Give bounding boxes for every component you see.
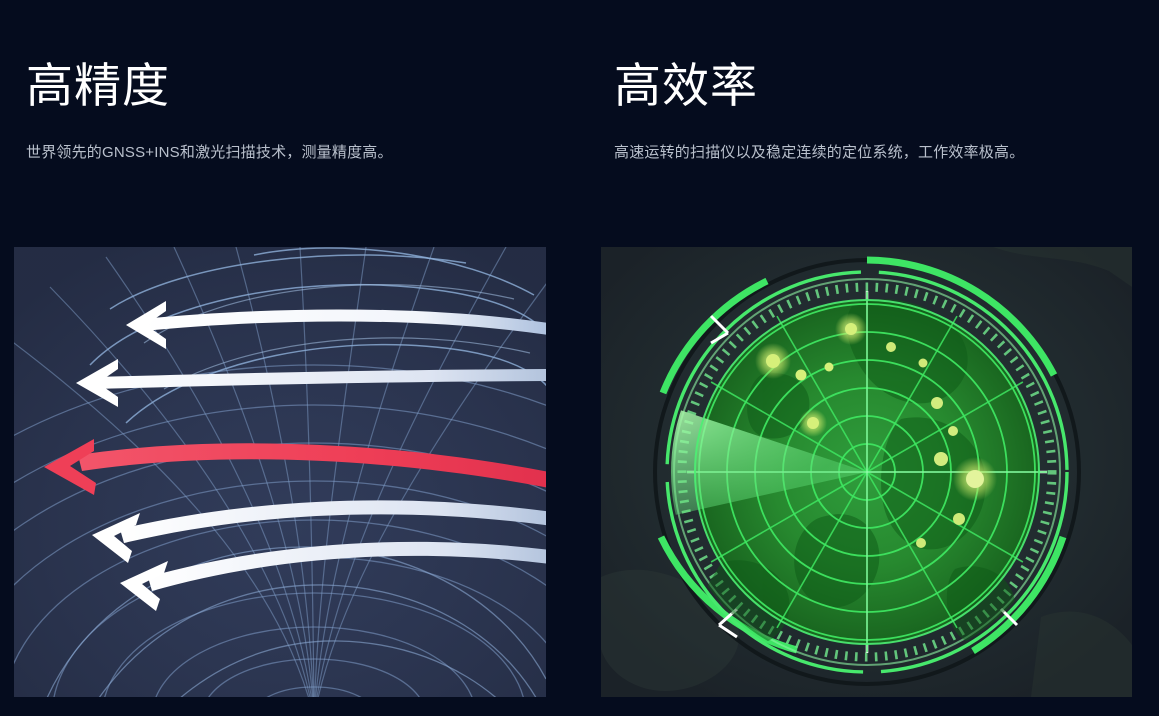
feature-columns: 高精度 世界领先的GNSS+INS和激光扫描技术，测量精度高。 [0, 0, 1159, 716]
feature-card-efficiency: 高效率 高速运转的扫描仪以及稳定连续的定位系统，工作效率极高。 [600, 0, 1159, 716]
page-title: 高精度 [26, 62, 170, 109]
globe-wireframe-svg [14, 247, 546, 697]
globe-wireframe-illustration [14, 247, 546, 697]
feature-subtitle-efficiency: 高速运转的扫描仪以及稳定连续的定位系统，工作效率极高。 [614, 145, 1024, 160]
feature-subtitle-accuracy: 世界领先的GNSS+INS和激光扫描技术，测量精度高。 [26, 145, 393, 160]
feature-highlight-page: 高精度 世界领先的GNSS+INS和激光扫描技术，测量精度高。 [0, 0, 1159, 716]
feature-card-accuracy: 高精度 世界领先的GNSS+INS和激光扫描技术，测量精度高。 [0, 0, 600, 716]
radar-scope-svg [601, 247, 1132, 697]
radar-scope-illustration [601, 247, 1132, 697]
page-title-efficiency: 高效率 [614, 62, 758, 109]
